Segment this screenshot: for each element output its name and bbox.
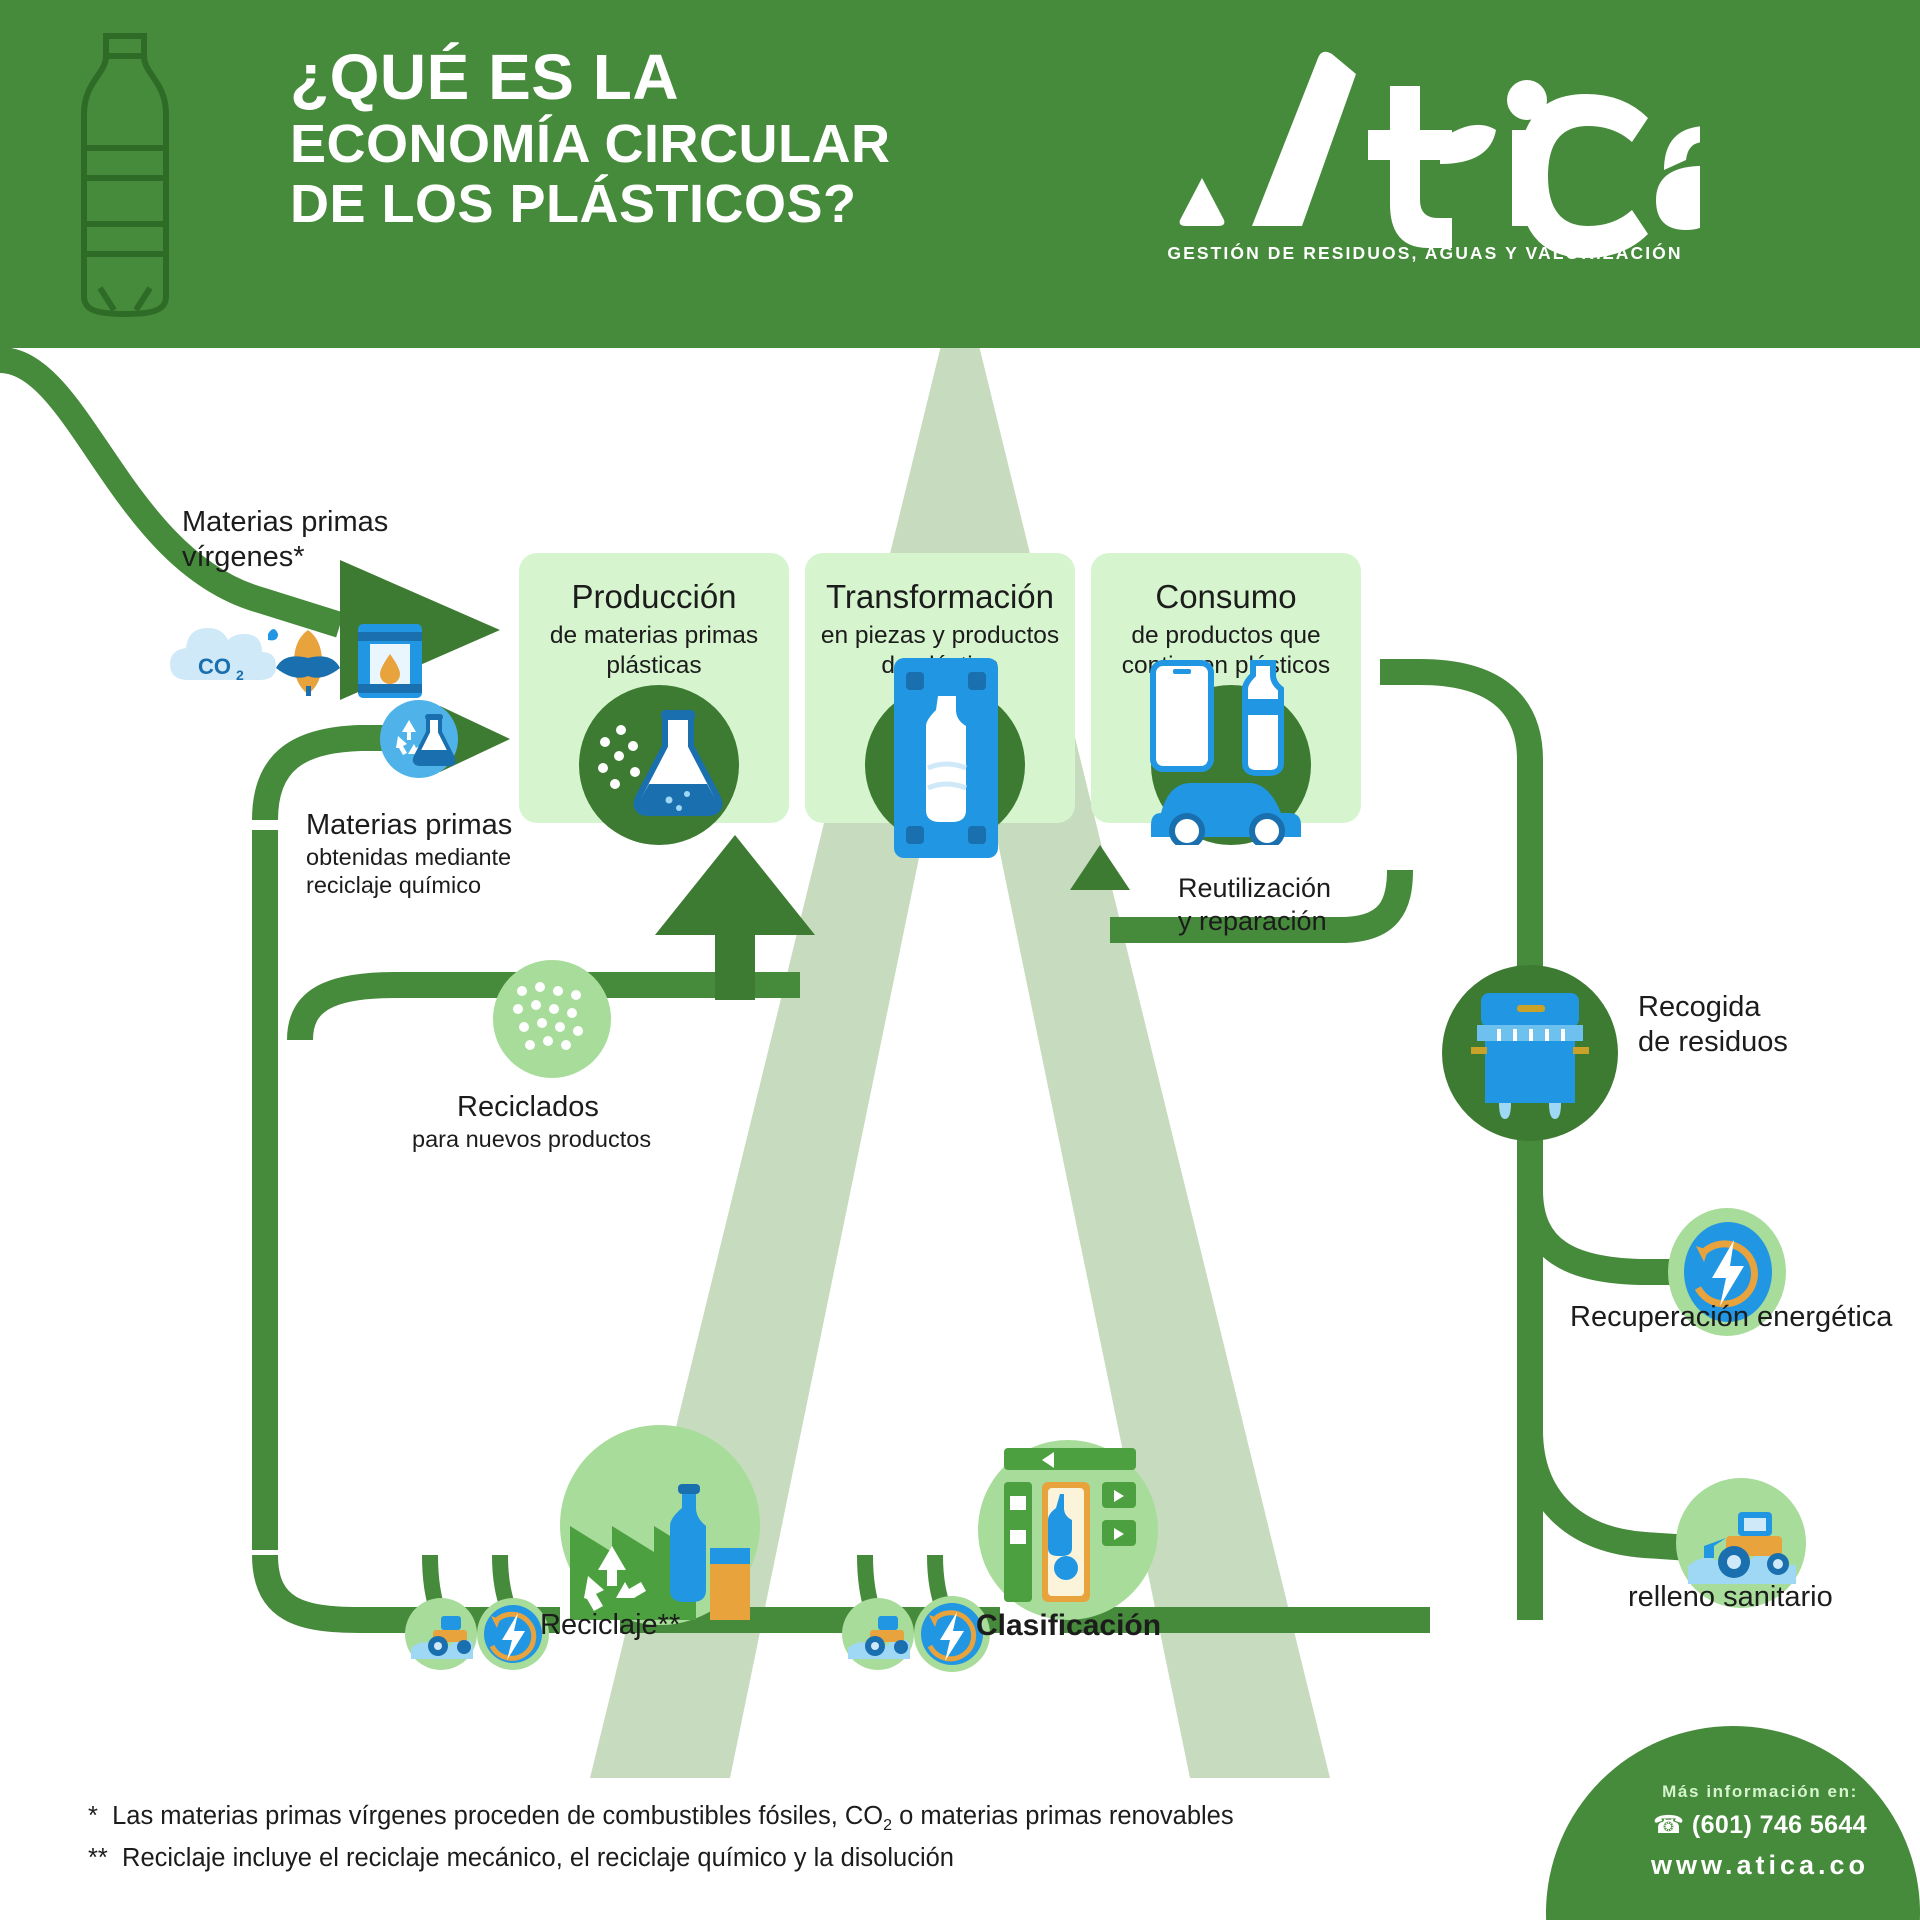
virgin-line-1: Materias primas bbox=[182, 505, 512, 540]
label-recuperacion-energetica: Recuperación energética bbox=[1570, 1300, 1920, 1335]
stage-title-produccion: Producción bbox=[519, 579, 789, 615]
footnote-1: * Las materias primas vírgenes proceden … bbox=[88, 1796, 1234, 1838]
landfill-small-icon bbox=[405, 1598, 477, 1670]
stage-title-transformacion: Transformación bbox=[805, 579, 1075, 615]
oil-barrel-icon bbox=[358, 624, 422, 698]
footer-contact-block: Más información en: ☎ (601) 746 5644 www… bbox=[1600, 1782, 1920, 1881]
landfill-line-1: relleno sanitario bbox=[1628, 1580, 1920, 1615]
label-clasificacion: Clasificación bbox=[976, 1608, 1276, 1644]
stage-subtitle-produccion-line1: de materias primas bbox=[519, 621, 789, 651]
footer-phone-number: (601) 746 5644 bbox=[1692, 1811, 1867, 1839]
recycling-line-1: Reciclaje** bbox=[540, 1608, 840, 1643]
label-reciclaje: Reciclaje** bbox=[540, 1608, 840, 1643]
label-reutilizacion: Reutilización y reparación bbox=[1178, 872, 1508, 938]
sorting-conveyor-icon bbox=[990, 1438, 1150, 1618]
landfill-small-icon-2 bbox=[842, 1598, 914, 1670]
collection-line-1: Recogida bbox=[1638, 990, 1920, 1025]
footer-website[interactable]: www.atica.co bbox=[1600, 1850, 1920, 1881]
label-recogida-residuos: Recogida de residuos bbox=[1638, 990, 1920, 1060]
footnote-1-text-2: o materias primas renovables bbox=[892, 1802, 1234, 1830]
footnote-2: ** Reciclaje incluye el reciclaje mecáni… bbox=[88, 1838, 1234, 1878]
stage-subtitle-transformacion-line1: en piezas y productos bbox=[805, 621, 1075, 651]
footer-more-info-label: Más información en: bbox=[1600, 1782, 1920, 1802]
pipe-collection-to-consumo bbox=[1380, 672, 1530, 990]
reuse-line-2: y reparación bbox=[1178, 905, 1508, 938]
phone-bottle-car-icon bbox=[1125, 655, 1340, 845]
virgin-line-2: vírgenes* bbox=[182, 540, 512, 575]
co2-corn-oilbarrel-icon: CO 2 bbox=[168, 608, 428, 698]
arrowhead-reuse-to-consumo bbox=[1070, 845, 1130, 890]
footnote-2-marker: ** bbox=[88, 1844, 108, 1872]
bottle-mold-icon bbox=[876, 648, 1016, 868]
pipe-energy-branch bbox=[1530, 1190, 1680, 1272]
recycling-plant-icon bbox=[562, 1430, 762, 1620]
footnote-1-subscript: 2 bbox=[883, 1817, 892, 1834]
recycled-line-2: para nuevos productos bbox=[412, 1125, 832, 1154]
phone-icon: ☎ bbox=[1653, 1811, 1685, 1839]
svg-text:CO: CO bbox=[198, 654, 231, 679]
pipe-landfill-branch bbox=[1530, 1430, 1690, 1548]
footnote-1-marker: * bbox=[88, 1802, 98, 1830]
co2-cloud-icon: CO 2 bbox=[170, 628, 278, 683]
label-relleno-sanitario: relleno sanitario bbox=[1628, 1580, 1920, 1615]
label-reciclados: Reciclados para nuevos productos bbox=[412, 1090, 832, 1153]
recycled-line-1: Reciclados bbox=[457, 1090, 832, 1125]
corn-icon bbox=[276, 630, 340, 696]
label-materias-primas-virgenes: Materias primas vírgenes* bbox=[182, 505, 512, 575]
stage-subtitle-consumo-line1: de productos que bbox=[1091, 621, 1361, 651]
collection-line-2: de residuos bbox=[1638, 1025, 1920, 1060]
waste-container-icon bbox=[1465, 985, 1595, 1125]
chemical-line-3: reciclaje químico bbox=[306, 871, 646, 900]
svg-text:2: 2 bbox=[236, 667, 244, 683]
landfill-tractor-icon bbox=[1686, 1494, 1798, 1594]
pellets-icon bbox=[508, 975, 596, 1063]
reuse-line-1: Reutilización bbox=[1178, 872, 1508, 905]
footnote-2-text: Reciclaje incluye el reciclaje mecánico,… bbox=[122, 1844, 954, 1872]
recycle-flask-icon bbox=[380, 700, 458, 778]
footnote-1-text: Las materias primas vírgenes proceden de… bbox=[112, 1802, 883, 1830]
label-materias-primas-reciclaje-quimico: Materias primas obtenidas mediante recic… bbox=[306, 808, 646, 900]
footer-phone[interactable]: ☎ (601) 746 5644 bbox=[1600, 1810, 1920, 1840]
chemical-line-1: Materias primas bbox=[306, 808, 646, 843]
infographic-canvas: ¿QUÉ ES LA ECONOMÍA CIRCULAR DE LOS PLÁS… bbox=[0, 0, 1920, 1920]
energy-line-1: Recuperación energética bbox=[1570, 1300, 1920, 1335]
stage-title-consumo: Consumo bbox=[1091, 579, 1361, 615]
sorting-line-1: Clasificación bbox=[976, 1609, 1161, 1642]
energy-small-icon bbox=[477, 1598, 549, 1670]
footnotes: * Las materias primas vírgenes proceden … bbox=[88, 1796, 1234, 1879]
stage-subtitle-produccion-line2: plásticas bbox=[519, 651, 789, 681]
chemical-line-2: obtenidas mediante bbox=[306, 843, 646, 872]
